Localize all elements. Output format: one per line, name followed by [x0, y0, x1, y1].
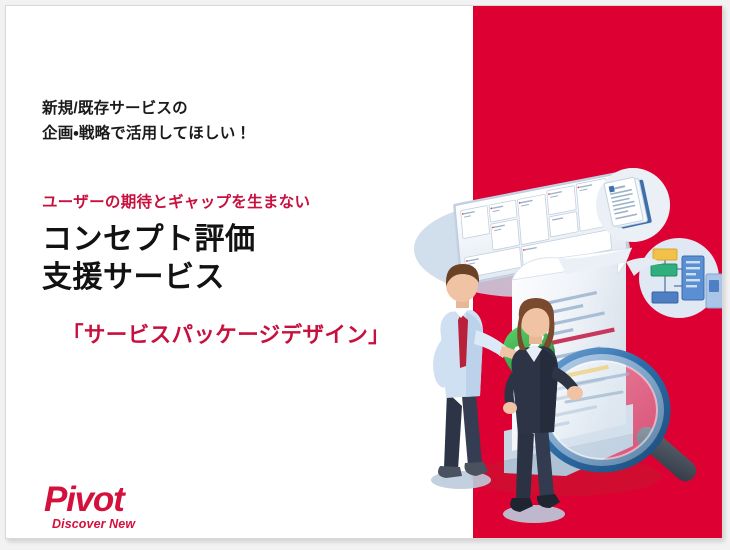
pivot-logo-mark: Pivot Discover New — [44, 478, 194, 534]
text-column: 新規/既存サービスの 企画・戦略で活用してほしい！ ユーザーの期待とギャップを生… — [42, 6, 462, 539]
service-name-quoted: 「サービスパッケージデザイン」 — [62, 318, 462, 349]
kicker-text: 新規/既存サービスの 企画・戦略で活用してほしい！ — [42, 96, 442, 146]
subtitle-red-text: ユーザーの期待とギャップを生まない — [42, 190, 442, 212]
logo-tagline: Discover New — [52, 517, 136, 531]
slide-card: 新規/既存サービスの 企画・戦略で活用してほしい！ ユーザーの期待とギャップを生… — [5, 5, 723, 539]
page-title: コンセプト評価 支援サービス — [42, 221, 442, 298]
slide-root: 新規/既存サービスの 企画・戦略で活用してほしい！ ユーザーの期待とギャップを生… — [0, 0, 730, 550]
red-accent-panel — [473, 6, 723, 539]
pivot-logo[interactable]: Pivot Discover New — [44, 478, 194, 534]
logo-wordmark: Pivot — [44, 480, 126, 519]
